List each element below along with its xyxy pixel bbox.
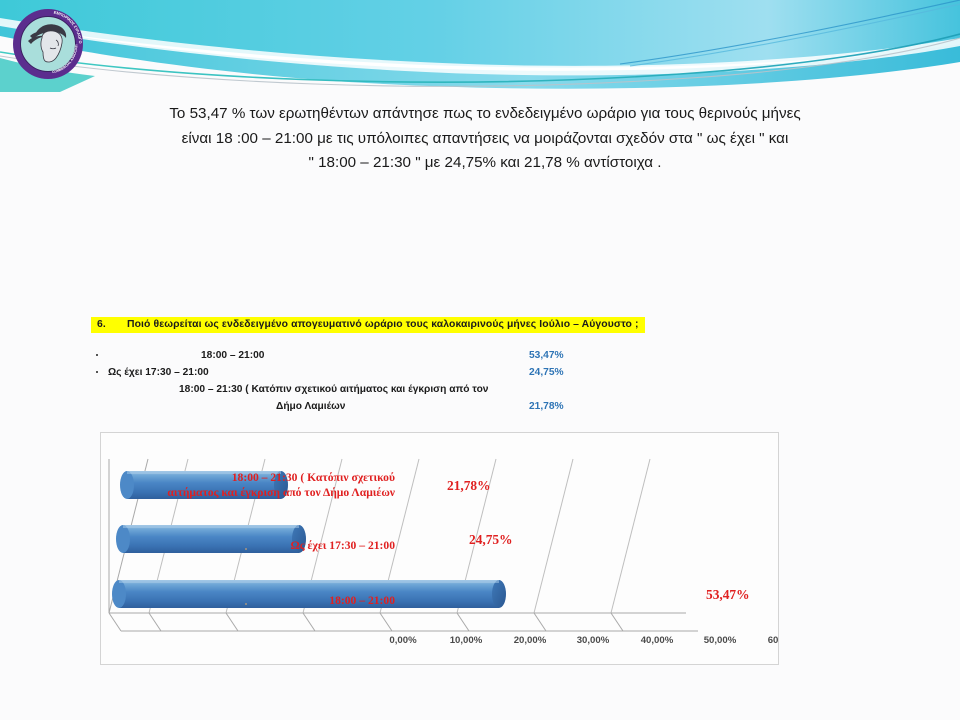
list-item: Ως έχει 17:30 – 21:00 24,75%: [91, 367, 691, 384]
intro-line-2: είναι 18 :00 – 21:00 με τις υπόλοιπες απ…: [105, 127, 865, 152]
question-text: Ποιό θεωρείται ως ενδεδειγμένο απογευματ…: [127, 319, 639, 330]
x-tick-40: 40,00%: [627, 635, 687, 646]
bar-chart: 18:00 – 21:30 ( Κατόπιν σχετικού αιτήματ…: [100, 432, 779, 665]
chart-value-label-1: 53,47%: [706, 587, 750, 603]
list-item: 18:00 – 21:30 ( Κατόπιν σχετικού αιτήματ…: [91, 384, 691, 401]
chart-category-label-3: 18:00 – 21:30 ( Κατόπιν σχετικού αιτήματ…: [105, 471, 395, 501]
list-item: 18:00 – 21:00 53,47%: [91, 350, 691, 367]
x-tick-10: 10,00%: [436, 635, 496, 646]
question-number: 6.: [97, 319, 127, 330]
organization-logo: ΕΜΠΟΡΙΚΟΣ ΣΥΛΛΟΓΟΣ ΛΑΜΙΑΣ COMMERCIAL ASS…: [12, 8, 84, 80]
chart-category-label-3-line1: 18:00 – 21:30 ( Κατόπιν σχετικού: [232, 471, 395, 484]
intro-line-3: " 18:00 – 21:30 " με 24,75% και 21,78 % …: [105, 151, 865, 176]
answer-label: 18:00 – 21:30 ( Κατόπιν σχετικού αιτήματ…: [179, 384, 488, 395]
x-tick-0: 0,00%: [373, 635, 433, 646]
answer-value: 53,47%: [529, 350, 564, 361]
question-heading: 6.Ποιό θεωρείται ως ενδεδειγμένο απογευμ…: [91, 317, 645, 333]
intro-paragraph: Το 53,47 % των ερωτηθέντων απάντησε πως …: [105, 102, 865, 176]
answer-list: 18:00 – 21:00 53,47% Ως έχει 17:30 – 21:…: [91, 350, 691, 418]
chart-category-label-3-line2: αιτήματος και έγκριση από τον Δήμο Λαμιέ…: [167, 486, 395, 499]
chart-category-label-1: 18:00 – 21:00: [105, 594, 395, 609]
answer-value: 24,75%: [529, 367, 564, 378]
category-marker-dot: [245, 603, 247, 605]
answer-label: Ως έχει 17:30 – 21:00: [108, 367, 209, 378]
chart-category-label-2-line1: Ως έχει 17:30 – 21:00: [290, 539, 395, 552]
category-marker-dot: [245, 548, 247, 550]
chart-value-label-2: 24,75%: [469, 532, 513, 548]
chart-category-label-2: Ως έχει 17:30 – 21:00: [105, 539, 395, 554]
bullet-icon: [96, 354, 98, 356]
x-tick-30: 30,00%: [563, 635, 623, 646]
list-item: Δήμο Λαμιέων 21,78%: [91, 401, 691, 418]
bullet-icon: [96, 371, 98, 373]
x-tick-20: 20,00%: [500, 635, 560, 646]
chart-value-label-3: 21,78%: [447, 478, 491, 494]
answer-value: 21,78%: [529, 401, 564, 412]
answer-label: 18:00 – 21:00: [201, 350, 264, 361]
chart-category-label-1-line1: 18:00 – 21:00: [329, 594, 395, 607]
x-tick-60: 60,00%: [754, 635, 779, 646]
decorative-wave-banner: [0, 0, 960, 92]
answer-label: Δήμο Λαμιέων: [276, 401, 345, 412]
x-tick-50: 50,00%: [690, 635, 750, 646]
intro-line-1: Το 53,47 % των ερωτηθέντων απάντησε πως …: [105, 102, 865, 127]
